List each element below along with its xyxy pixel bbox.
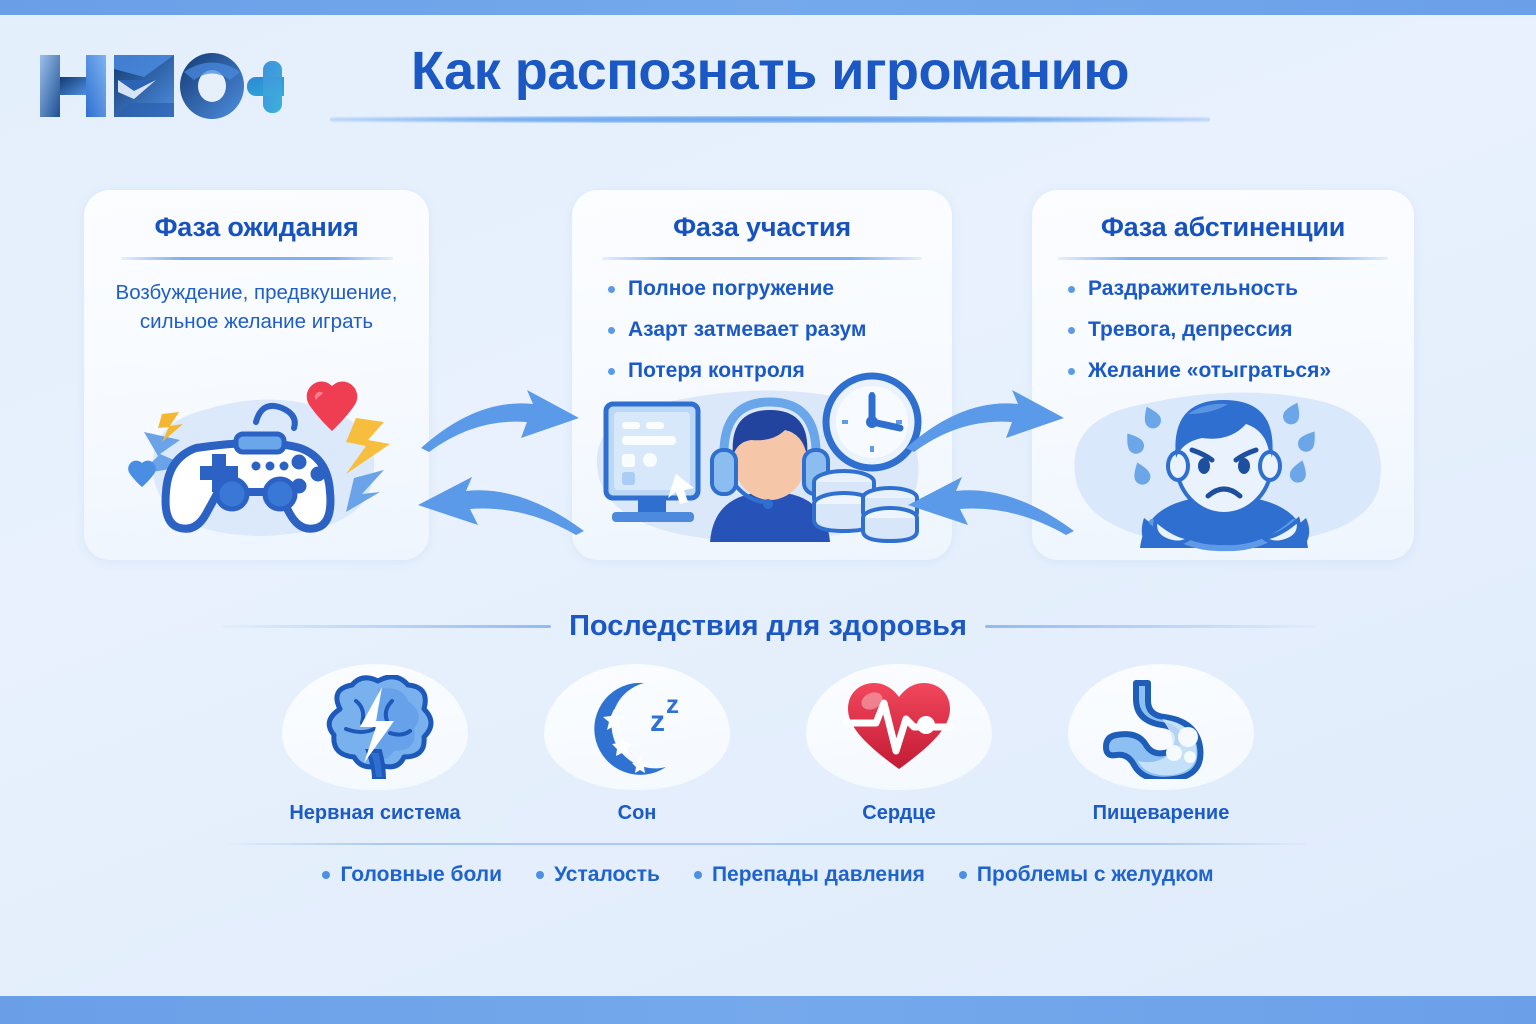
symptom-item: Перепады давления (694, 863, 925, 887)
section-heading: Последствия для здоровья (0, 600, 1536, 652)
list-item: Азарт затмевает разум (606, 319, 952, 340)
arrow-phase2-to-phase1 (410, 475, 590, 541)
health-item-sleep[interactable]: z z Сон (542, 664, 732, 825)
icon-blob (282, 664, 468, 790)
symptom-label: Перепады давления (712, 863, 925, 887)
health-item-nervous-system[interactable]: Нервная система (280, 664, 470, 825)
bullet-dot-icon (959, 871, 967, 879)
neo-plus-logo-icon (34, 47, 284, 125)
phase-card-title: Фаза участия (572, 212, 952, 243)
health-consequences-section: Последствия для здоровья (0, 600, 1536, 887)
list-item: Раздражительность (1066, 278, 1414, 299)
symptom-label: Головные боли (340, 863, 502, 887)
icon-blob: z z (544, 664, 730, 790)
page-title: Как распознать игроманию (320, 43, 1220, 100)
arrow-phase1-to-phase2 (415, 390, 585, 456)
phase-bullet-list: Раздражительность Тревога, депрессия Жел… (1032, 278, 1414, 381)
symptom-item: Проблемы с желудком (959, 863, 1214, 887)
phase-cards-section: Фаза ожидания Возбуждение, предвкушение,… (0, 190, 1536, 565)
bullet-dot-icon (536, 871, 544, 879)
heading-rule-right (985, 625, 1315, 628)
symptom-item: Головные боли (322, 863, 502, 887)
icon-blob (806, 664, 992, 790)
icon-blob (1068, 664, 1254, 790)
heading-rule-left (221, 625, 551, 628)
gamer-monitor-clock-coins-icon (572, 370, 952, 560)
symptom-label: Усталость (554, 863, 660, 887)
heart-pulse-icon (840, 675, 958, 779)
title-underline (330, 116, 1210, 123)
card-title-divider (602, 257, 922, 260)
health-item-label: Пищеварение (1066, 802, 1256, 825)
symptom-item: Усталость (536, 863, 660, 887)
health-icon-row: Нервная система z z Сон (0, 664, 1536, 825)
infographic-poster: Как распознать игроманию Фаза ожидания В… (0, 0, 1536, 1024)
moon-zzz-icon: z z (578, 675, 696, 779)
health-item-digestion[interactable]: Пищеварение (1066, 664, 1256, 825)
phase-card-withdrawal[interactable]: Фаза абстиненции Раздражительность Трево… (1032, 190, 1414, 560)
health-item-label: Нервная система (280, 802, 470, 825)
gamepad-hearts-icon (84, 370, 429, 560)
stomach-icon (1102, 675, 1220, 779)
phase-description: Возбуждение, предвкушение, сильное желан… (84, 278, 429, 336)
list-item: Тревога, депрессия (1066, 319, 1414, 340)
card-title-divider (121, 257, 393, 260)
phase-card-body: Раздражительность Тревога, депрессия Жел… (1032, 278, 1414, 381)
poster-header: Как распознать игроманию (0, 15, 1536, 165)
brand-logo (34, 47, 284, 125)
symptom-list: Головные боли Усталость Перепады давлени… (0, 863, 1536, 887)
section-title: Последствия для здоровья (569, 610, 967, 643)
svg-text:z: z (650, 705, 665, 738)
brain-icon (316, 675, 434, 779)
phase-card-body: Возбуждение, предвкушение, сильное желан… (84, 278, 429, 336)
health-item-label: Сон (542, 802, 732, 825)
phase-card-title: Фаза ожидания (84, 212, 429, 243)
health-item-label: Сердце (804, 802, 994, 825)
bullet-dot-icon (694, 871, 702, 879)
phase-card-anticipation[interactable]: Фаза ожидания Возбуждение, предвкушение,… (84, 190, 429, 560)
phase-bullet-list: Полное погружение Азарт затмевает разум … (572, 278, 952, 381)
svg-text:z: z (666, 689, 679, 719)
top-accent-band (0, 0, 1536, 15)
bottom-accent-band (0, 996, 1536, 1024)
phase-card-title: Фаза абстиненции (1032, 212, 1414, 243)
sad-person-icon (1032, 370, 1414, 560)
card-title-divider (1058, 257, 1388, 260)
bullet-dot-icon (322, 871, 330, 879)
health-item-heart[interactable]: Сердце (804, 664, 994, 825)
list-item: Полное погружение (606, 278, 952, 299)
title-block: Как распознать игроманию (320, 43, 1220, 123)
symptom-label: Проблемы с желудком (977, 863, 1214, 887)
symptoms-divider (230, 843, 1306, 845)
phase-card-body: Полное погружение Азарт затмевает разум … (572, 278, 952, 381)
phase-card-participation[interactable]: Фаза участия Полное погружение Азарт зат… (572, 190, 952, 560)
